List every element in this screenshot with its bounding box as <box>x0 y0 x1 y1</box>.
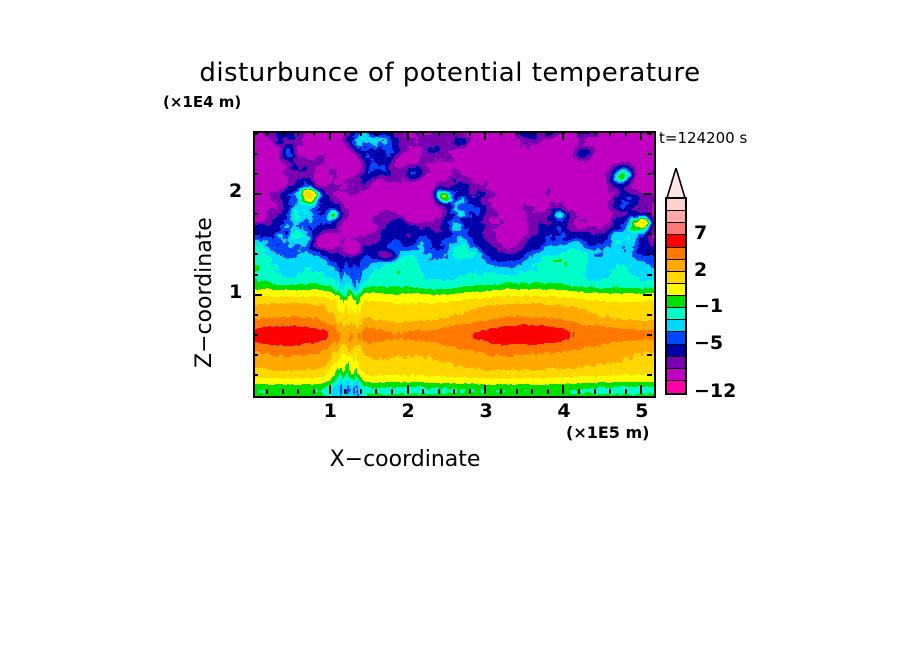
y-tick-right <box>647 253 652 255</box>
x-tick-top <box>391 131 393 136</box>
y-tick-right <box>647 133 652 135</box>
x-tick-top <box>297 131 299 136</box>
y-tick-minor <box>253 354 258 356</box>
y-tick-right <box>647 334 652 336</box>
contour-field-canvas <box>255 133 654 396</box>
x-tick-minor <box>594 389 596 394</box>
colorbar-band <box>667 345 685 357</box>
y-tick-minor <box>253 314 258 316</box>
x-tick-top <box>282 131 284 136</box>
figure-title-text: disturbunce of potential temperature <box>199 58 700 88</box>
x-tick-top <box>500 131 502 136</box>
timestamp-label: t=124200 s <box>659 129 747 147</box>
y-tick-right <box>643 193 652 195</box>
x-tick-top <box>313 131 315 136</box>
x-tick-top <box>438 131 440 136</box>
x-tick-top <box>516 131 518 136</box>
colorbar-tick-label: −1 <box>694 295 723 317</box>
x-tick-minor <box>531 389 533 394</box>
x-tick-minor <box>500 389 502 394</box>
y-tick-right <box>647 274 652 276</box>
x-tick-minor <box>625 389 627 394</box>
colorbar-band <box>667 332 685 344</box>
y-tick-minor <box>253 173 258 175</box>
x-tick-major <box>329 385 331 394</box>
x-tick-minor <box>391 389 393 394</box>
colorbar-tick-label: −12 <box>694 380 736 402</box>
colorbar-band <box>667 296 685 308</box>
x-tick-minor <box>297 389 299 394</box>
x-tick-minor <box>344 389 346 394</box>
y-tick-right <box>647 233 652 235</box>
colorbar-band <box>667 211 685 223</box>
z-axis-unit-label: (×1E4 m) <box>163 93 241 111</box>
x-tick-minor <box>516 389 518 394</box>
x-tick-top <box>375 131 377 136</box>
x-tick-major <box>407 385 409 394</box>
y-tick-minor <box>253 213 258 215</box>
x-tick-major <box>562 385 564 394</box>
x-tick-minor <box>282 389 284 394</box>
y-tick-minor <box>253 374 258 376</box>
y-tick-right <box>647 374 652 376</box>
colorbar-tick-label: 2 <box>694 259 707 281</box>
x-tick-top <box>407 131 409 140</box>
y-tick-minor <box>253 153 258 155</box>
x-tick-top <box>547 131 549 136</box>
colorbar-band <box>667 357 685 369</box>
x-tick-top <box>578 131 580 136</box>
colorbar-band <box>667 284 685 296</box>
colorbar-band <box>667 369 685 381</box>
x-tick-major <box>484 385 486 394</box>
x-tick-minor <box>438 389 440 394</box>
x-tick-minor <box>313 389 315 394</box>
y-tick-minor <box>253 274 258 276</box>
y-tick-minor <box>253 253 258 255</box>
x-tick-top <box>266 131 268 136</box>
y-axis-title-text: Z−coordinate <box>192 328 217 368</box>
colorbar-bands <box>665 197 687 395</box>
x-tick-top <box>344 131 346 136</box>
y-tick-major <box>253 193 262 195</box>
x-tick-label: 5 <box>635 400 648 422</box>
y-tick-label: 1 <box>229 281 242 303</box>
colorbar-arrow-icon <box>665 168 687 198</box>
colorbar-band <box>667 223 685 235</box>
colorbar-band <box>667 260 685 272</box>
plot-area[interactable] <box>253 131 656 398</box>
x-tick-top <box>594 131 596 136</box>
x-tick-label: 2 <box>402 400 415 422</box>
x-tick-minor <box>609 389 611 394</box>
x-tick-minor <box>375 389 377 394</box>
colorbar-band <box>667 248 685 260</box>
x-tick-minor <box>453 389 455 394</box>
x-tick-top <box>422 131 424 136</box>
x-tick-minor <box>547 389 549 394</box>
x-tick-minor <box>266 389 268 394</box>
colorbar-band <box>667 381 685 393</box>
x-tick-minor <box>360 389 362 394</box>
y-tick-right <box>647 354 652 356</box>
y-tick-minor <box>253 233 258 235</box>
x-tick-minor <box>422 389 424 394</box>
y-tick-label: 2 <box>229 180 242 202</box>
x-tick-top <box>562 131 564 140</box>
colorbar[interactable] <box>665 168 687 395</box>
x-tick-label: 1 <box>324 400 337 422</box>
y-tick-right <box>647 213 652 215</box>
colorbar-tick-label: −5 <box>694 332 723 354</box>
x-axis-title-text: X−coordinate <box>330 447 481 472</box>
x-tick-top <box>625 131 627 136</box>
colorbar-band <box>667 308 685 320</box>
x-tick-label: 4 <box>557 400 570 422</box>
x-tick-top <box>640 131 642 140</box>
x-axis-title: X−coordinate <box>0 447 904 472</box>
colorbar-tick-label: 7 <box>694 222 707 244</box>
x-tick-top <box>484 131 486 140</box>
x-tick-major <box>640 385 642 394</box>
y-tick-right <box>643 294 652 296</box>
x-tick-minor <box>469 389 471 394</box>
y-tick-right <box>647 173 652 175</box>
x-tick-top <box>469 131 471 136</box>
x-tick-top <box>360 131 362 136</box>
x-tick-top <box>329 131 331 140</box>
contour-figure: disturbunce of potential temperature (×1… <box>0 0 904 654</box>
colorbar-band <box>667 199 685 211</box>
colorbar-band <box>667 272 685 284</box>
x-tick-top <box>531 131 533 136</box>
y-axis-title: Z−coordinate <box>186 160 226 370</box>
y-tick-major <box>253 294 262 296</box>
x-tick-label: 3 <box>479 400 492 422</box>
x-tick-top <box>453 131 455 136</box>
colorbar-band <box>667 235 685 247</box>
colorbar-band <box>667 320 685 332</box>
y-tick-minor <box>253 133 258 135</box>
x-tick-minor <box>578 389 580 394</box>
y-tick-right <box>647 153 652 155</box>
y-tick-right <box>647 314 652 316</box>
x-tick-top <box>609 131 611 136</box>
x-axis-unit-label: (×1E5 m) <box>566 423 649 442</box>
figure-title: disturbunce of potential temperature <box>0 58 904 88</box>
y-tick-minor <box>253 334 258 336</box>
